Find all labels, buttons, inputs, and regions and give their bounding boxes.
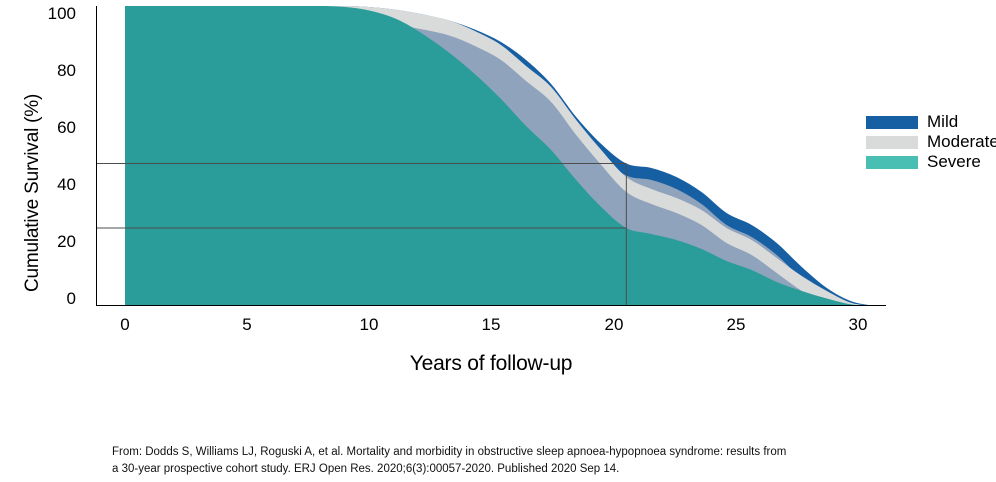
legend-swatch-mild bbox=[866, 116, 918, 129]
legend-label-mild: Mild bbox=[927, 112, 958, 132]
x-tick-label-25: 25 bbox=[714, 315, 758, 335]
x-tick-label-0: 0 bbox=[103, 315, 147, 335]
x-tick-label-5: 5 bbox=[225, 315, 269, 335]
legend-item-mild[interactable]: Mild bbox=[866, 112, 996, 132]
plot-area bbox=[96, 6, 886, 306]
y-tick-label-20: 20 bbox=[24, 232, 76, 252]
legend-item-severe[interactable]: Severe bbox=[866, 152, 996, 172]
legend-label-moderate: Moderate bbox=[927, 132, 996, 152]
legend-label-severe: Severe bbox=[927, 152, 981, 172]
y-tick-label-100: 100 bbox=[24, 4, 76, 24]
figure-caption: From: Dodds S, Williams LJ, Roguski A, e… bbox=[112, 444, 902, 478]
legend-swatch-moderate bbox=[866, 136, 918, 149]
x-tick-label-10: 10 bbox=[347, 315, 391, 335]
x-tick-label-30: 30 bbox=[836, 315, 880, 335]
chart-legend: Mild Moderate Severe bbox=[866, 112, 996, 172]
x-axis-title: Years of follow-up bbox=[96, 352, 886, 376]
caption-line-1: From: Dodds S, Williams LJ, Roguski A, e… bbox=[112, 444, 902, 461]
x-tick-label-20: 20 bbox=[592, 315, 636, 335]
y-tick-label-60: 60 bbox=[24, 118, 76, 138]
y-tick-label-40: 40 bbox=[24, 175, 76, 195]
survival-area-chart bbox=[96, 6, 886, 306]
x-tick-label-15: 15 bbox=[469, 315, 513, 335]
y-tick-label-80: 80 bbox=[24, 61, 76, 81]
y-tick-label-0: 0 bbox=[24, 289, 76, 309]
figure-container: Cumulative Survival (%) 100 80 60 40 20 … bbox=[0, 0, 996, 482]
caption-line-2: a 30-year prospective cohort study. ERJ … bbox=[112, 461, 902, 478]
legend-swatch-severe bbox=[866, 156, 918, 169]
legend-item-moderate[interactable]: Moderate bbox=[866, 132, 996, 152]
